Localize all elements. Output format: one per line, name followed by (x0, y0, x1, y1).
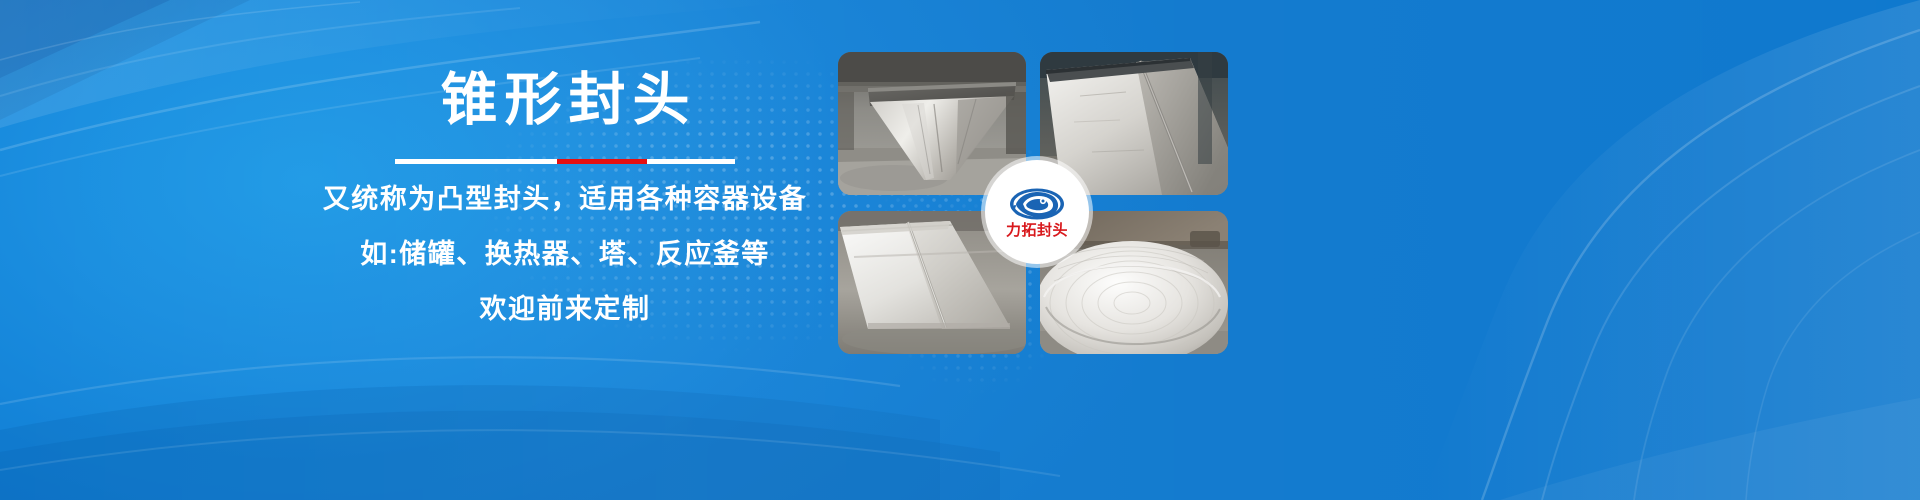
banner-subtitle-group: 又统称为凸型封头，适用各种容器设备 如:储罐、换热器、塔、反应釜等 欢迎前来定制 (323, 186, 808, 323)
title-divider (395, 159, 735, 164)
promo-banner: 锥形封头 又统称为凸型封头，适用各种容器设备 如:储罐、换热器、塔、反应釜等 欢… (0, 0, 1920, 500)
product-photo-top-left (838, 52, 1026, 195)
banner-subtitle-line-2: 如:储罐、换热器、塔、反应釜等 (323, 241, 808, 268)
eagle-swirl-emblem-icon (1009, 187, 1065, 221)
banner-headline: 锥形封头 (434, 72, 697, 129)
title-divider-accent (557, 159, 647, 164)
company-logo-text: 力拓封头 (1006, 223, 1068, 238)
banner-subtitle-line-1: 又统称为凸型封头，适用各种容器设备 (323, 186, 808, 213)
banner-subtitle-line-3: 欢迎前来定制 (323, 296, 808, 323)
company-logo-badge: 力拓封头 (985, 160, 1089, 264)
